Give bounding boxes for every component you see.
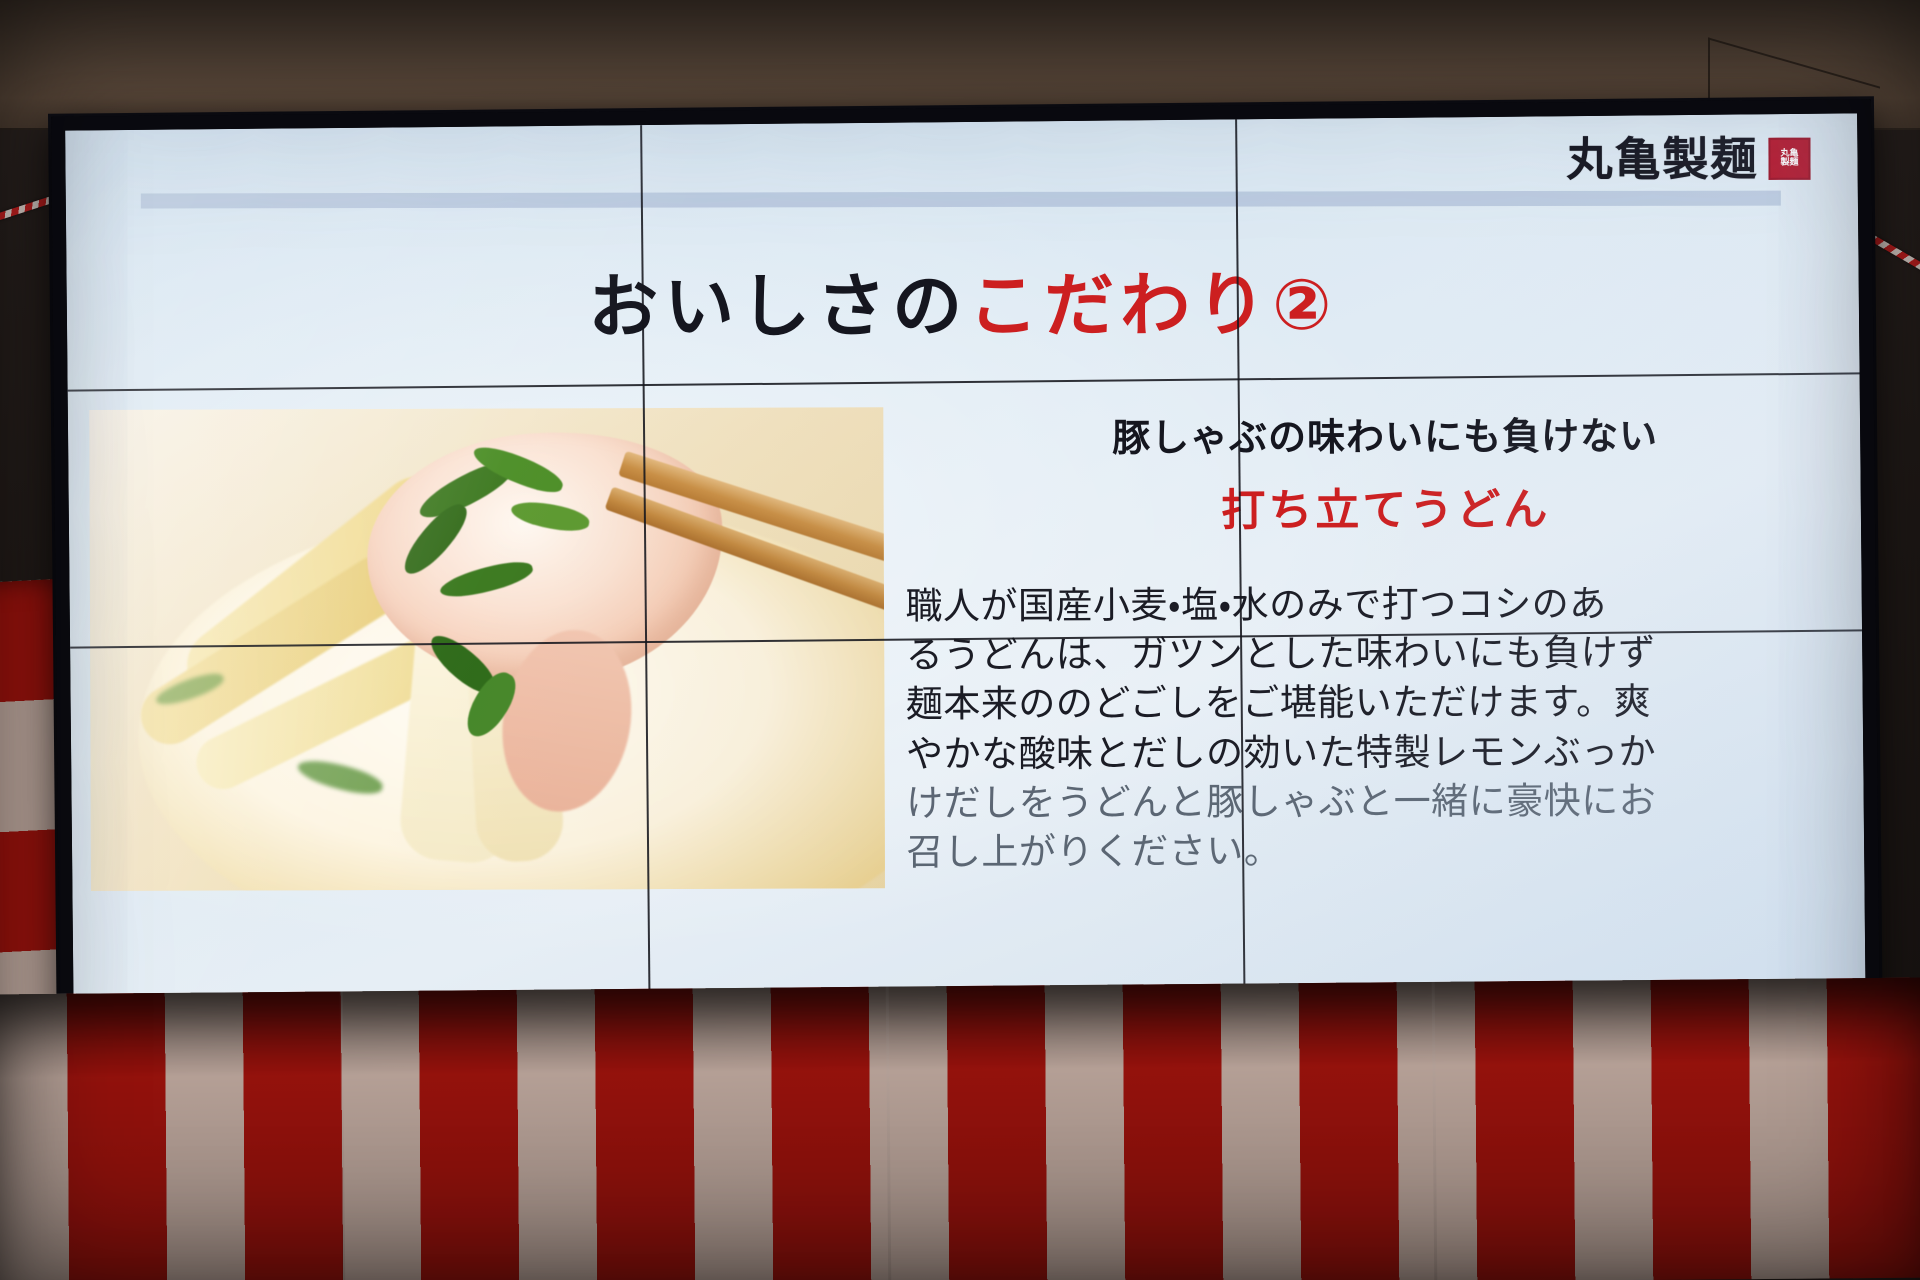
curtain-fold [1432,982,1438,1280]
conference-room-scene: 丸亀製麺 丸亀製麺 おいしさのこだわり② [0,0,1920,1280]
curtain-fold [886,987,892,1280]
curtain-fold [340,991,346,1280]
kouhaku-curtain-bottom [0,977,1920,1280]
